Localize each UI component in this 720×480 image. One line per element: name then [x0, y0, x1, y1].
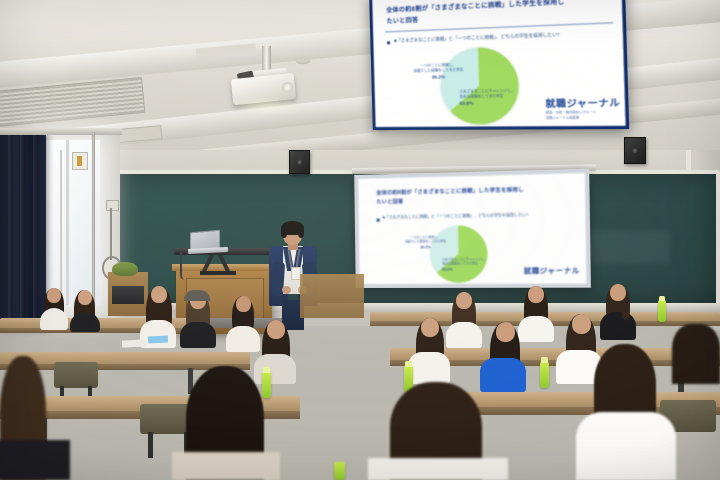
student-body	[226, 326, 260, 352]
laptop-cable	[180, 252, 185, 280]
curtain-rail	[0, 128, 122, 135]
paper-handout[interactable]	[122, 339, 146, 347]
chair-leg	[148, 432, 153, 458]
pie-label-left-line2: 深掘りした経験をしてきた学生	[399, 240, 452, 244]
student-body	[518, 316, 554, 342]
student-head	[572, 314, 591, 334]
bottle-cap	[405, 361, 412, 367]
smoke-detector-icon	[296, 56, 310, 63]
student-cap	[184, 290, 210, 301]
pie-value-right: 63.8%	[442, 267, 488, 272]
bullet-marker	[387, 41, 390, 44]
lecture-hall-photo: 全体の約8割が「さまざまなことに挑戦」した学生を採用し たいと回答 ■「さまざま…	[0, 0, 720, 480]
student-body	[180, 322, 216, 348]
slide-title-line2: たいと回答	[376, 195, 574, 206]
window-pole	[92, 132, 95, 310]
window	[38, 140, 100, 305]
student-body-foreground	[0, 440, 70, 480]
student-head	[421, 318, 439, 337]
publisher-logo-sub2: 就職ジャーナル編集部	[546, 115, 580, 120]
slide-bullet: ■「さまざまなことに挑戦」と「一つのことに挑戦」、どちらの学生を採用したい?	[394, 30, 608, 44]
window-pole	[60, 150, 62, 308]
hook-cord	[110, 208, 112, 260]
pie-value-right: 63.8%	[460, 100, 513, 107]
projector-light-beam	[236, 98, 296, 114]
slide-bullet: ■「さまざまなことに挑戦」と「一つのことに挑戦」、どちらの学生を採用したい?	[383, 212, 577, 220]
pie-chart	[440, 46, 520, 124]
laptop-stand-base	[200, 271, 236, 275]
lower-projection-screen[interactable]: 全体の約8割が「さまざまなことに挑戦」した学生を採用し たいと回答 ■「さまざま…	[354, 169, 591, 288]
window-sign	[72, 152, 88, 170]
drink-bottle[interactable]	[334, 462, 345, 480]
drink-bottle[interactable]	[658, 300, 666, 322]
publisher-logo-sub1: 調査・分析／株式会社リクルート	[546, 110, 597, 115]
pie-label-right-line2: 多彩な経験をしてきた学生	[459, 93, 529, 99]
curtain-fold	[33, 134, 38, 330]
wooden-cabinet	[300, 274, 364, 318]
notebook[interactable]	[148, 335, 168, 343]
student-body	[254, 354, 296, 384]
curtain-fold	[20, 134, 25, 330]
curtain-fold	[8, 134, 13, 330]
student-head	[528, 286, 544, 303]
upper-projection-screen[interactable]: 全体の約8割が「さまざまなことに挑戦」した学生を採用し たいと回答 ■「さまざま…	[369, 0, 629, 130]
presenter-hand-left	[282, 286, 291, 294]
student-body	[40, 308, 68, 330]
bullet-marker	[377, 219, 380, 222]
pie-value-left: 36.2%	[399, 245, 452, 250]
student-head	[456, 292, 472, 309]
student-body	[70, 312, 100, 332]
bottle-cap	[659, 296, 665, 301]
student-head	[610, 284, 626, 301]
student-head	[47, 288, 61, 303]
student-ponytail	[622, 300, 629, 320]
drink-bottle[interactable]	[262, 372, 271, 398]
presenter-hair	[298, 226, 304, 238]
pie-label-right-line2: 多彩な経験をしてきた学生	[442, 262, 502, 266]
student-shoulders-foreground	[368, 458, 508, 480]
bottle-cap	[263, 367, 270, 373]
student-body-foreground	[576, 412, 676, 480]
student-hair-foreground	[672, 324, 720, 384]
student-head	[78, 290, 92, 305]
student-head	[267, 320, 285, 339]
student-head	[236, 296, 251, 312]
student-body	[408, 352, 450, 384]
student-body	[480, 358, 526, 392]
window-mullion	[66, 140, 69, 305]
wall-speaker-left	[289, 150, 310, 174]
drink-bottle[interactable]	[540, 362, 549, 388]
pie-chart	[429, 225, 488, 283]
publisher-logo: 就職ジャーナル	[524, 266, 580, 277]
student-shoulders-foreground	[172, 452, 280, 480]
chair[interactable]	[54, 362, 98, 388]
equipment-box	[112, 286, 144, 304]
potted-plant	[112, 262, 138, 276]
presenter-hair	[281, 226, 287, 238]
wall-speaker-right	[624, 137, 646, 164]
wall-hook	[106, 200, 119, 211]
bottle-cap	[541, 357, 548, 363]
student-head	[496, 322, 515, 342]
publisher-logo: 就職ジャーナル	[545, 95, 620, 110]
student-body	[600, 312, 636, 340]
student-body	[446, 322, 482, 348]
student-head	[151, 286, 167, 303]
